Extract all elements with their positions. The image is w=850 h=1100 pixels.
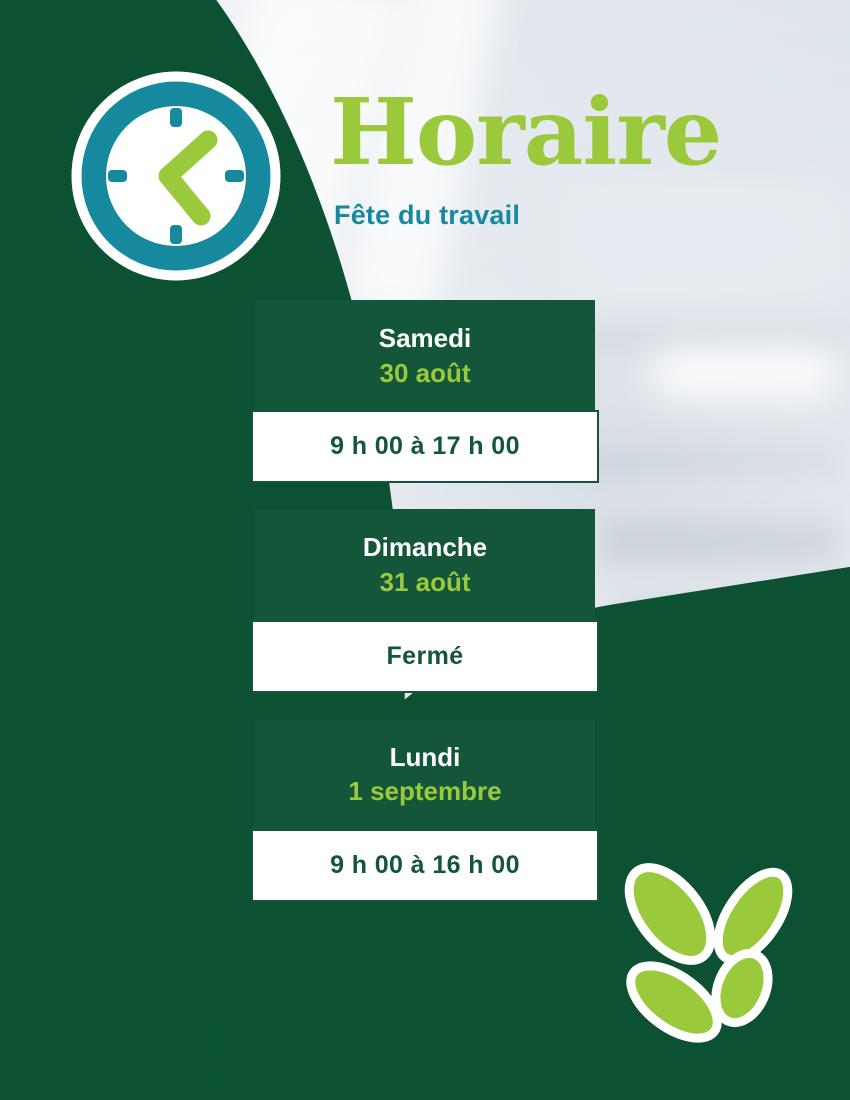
schedule-card-header: Lundi 1 septembre <box>255 719 595 829</box>
poster-canvas: Horaire Fête du travail Samedi 30 août 9… <box>0 0 850 1100</box>
schedule-list: Samedi 30 août 9 h 00 à 17 h 00 Dimanche… <box>255 300 595 902</box>
butterfly-logo-icon <box>612 858 812 1058</box>
schedule-card-samedi: Samedi 30 août 9 h 00 à 17 h 00 <box>255 300 595 483</box>
schedule-card-lundi: Lundi 1 septembre 9 h 00 à 16 h 00 <box>255 719 595 902</box>
schedule-hours-box: Fermé <box>251 620 599 693</box>
heading-group: Horaire Fête du travail <box>330 86 800 231</box>
schedule-hours-label: Fermé <box>263 642 587 671</box>
page-title: Horaire <box>330 86 800 178</box>
schedule-hours-label: 9 h 00 à 16 h 00 <box>263 851 587 880</box>
schedule-hours-box: 9 h 00 à 17 h 00 <box>251 410 599 483</box>
schedule-card-dimanche: Dimanche 31 août Fermé <box>255 509 595 692</box>
background-blur-band <box>575 455 840 469</box>
schedule-date-label: 31 août <box>265 566 585 600</box>
schedule-day-label: Dimanche <box>265 531 585 564</box>
page-subtitle: Fête du travail <box>334 200 800 231</box>
schedule-day-label: Samedi <box>265 322 585 355</box>
schedule-hours-label: 9 h 00 à 17 h 00 <box>263 432 587 461</box>
schedule-card-header: Samedi 30 août <box>255 300 595 410</box>
background-blur-band <box>600 520 840 566</box>
background-soft-shape <box>648 345 838 401</box>
schedule-card-header: Dimanche 31 août <box>255 509 595 619</box>
schedule-date-label: 1 septembre <box>265 775 585 809</box>
schedule-day-label: Lundi <box>265 741 585 774</box>
clock-icon <box>68 68 284 284</box>
schedule-hours-box: 9 h 00 à 16 h 00 <box>251 829 599 902</box>
schedule-date-label: 30 août <box>265 357 585 391</box>
